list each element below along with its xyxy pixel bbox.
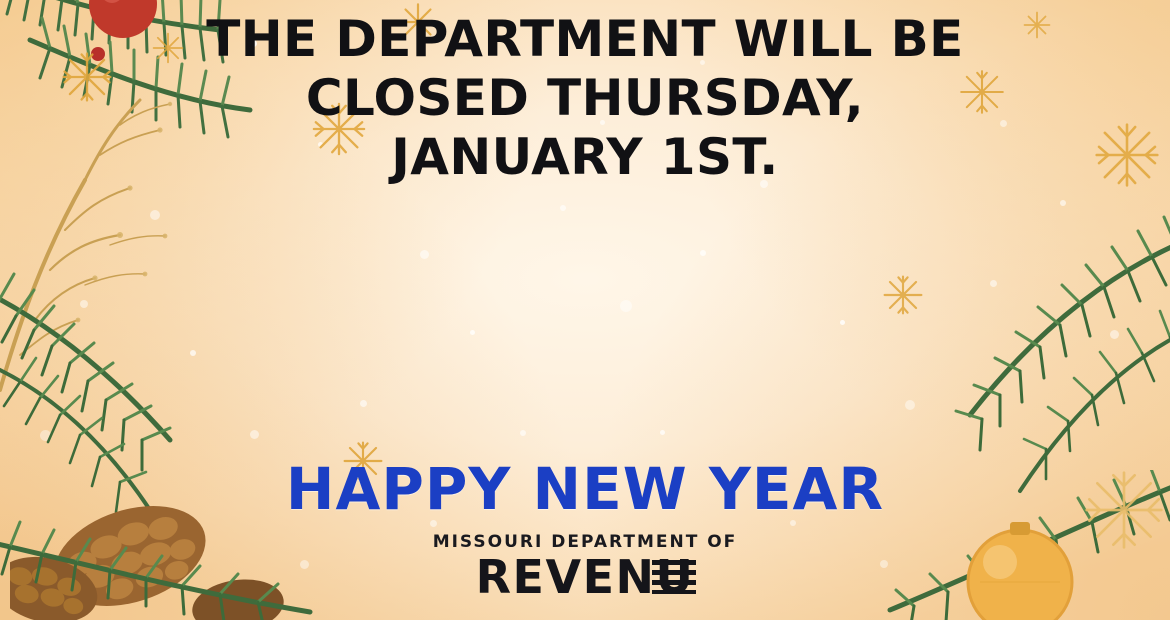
logo-top-line: MISSOURI DEPARTMENT OF [0,532,1170,552]
headline-line-2: CLOSED THURSDAY, [0,69,1170,128]
revenue-logo: MISSOURI DEPARTMENT OF REVENU [0,532,1170,600]
logo-stripes-icon [652,560,696,594]
headline-line-1: THE DEPARTMENT WILL BE [0,10,1170,69]
gold-snowflake-icon [880,272,926,318]
headline: THE DEPARTMENT WILL BE CLOSED THURSDAY, … [0,10,1170,187]
holiday-announcement-poster: THE DEPARTMENT WILL BE CLOSED THURSDAY, … [0,0,1170,620]
headline-line-3: JANUARY 1ST. [0,128,1170,187]
greeting-text: HAPPY NEW YEAR [0,455,1170,523]
logo-wordmark: REVENU [476,554,695,600]
